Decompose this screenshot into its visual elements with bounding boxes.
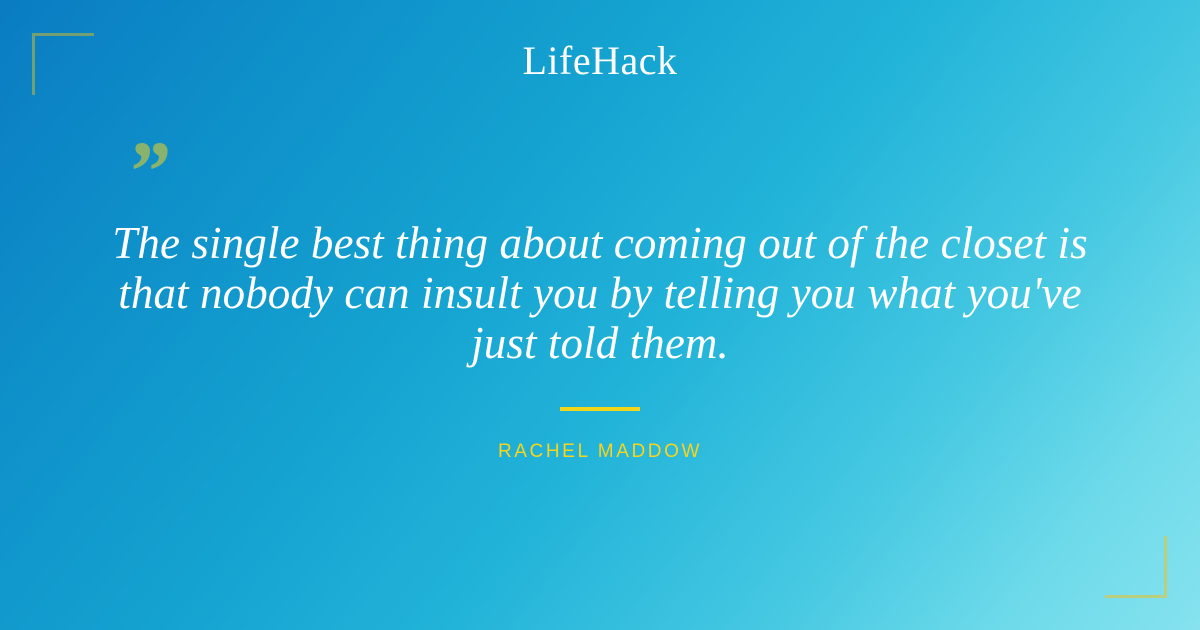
author-container: RACHEL MADDOW bbox=[0, 440, 1200, 464]
divider-container bbox=[0, 407, 1200, 411]
quote-author: RACHEL MADDOW bbox=[498, 441, 702, 462]
corner-bracket-bottom-right-icon bbox=[1105, 536, 1167, 598]
lifehack-logo: LifeHack bbox=[0, 38, 1200, 84]
accent-divider bbox=[560, 407, 640, 411]
quote-card: LifeHack ” The single best thing about c… bbox=[0, 0, 1200, 630]
quote-text: The single best thing about coming out o… bbox=[100, 218, 1100, 368]
quotation-mark-icon: ” bbox=[126, 128, 196, 198]
quote-text-block: The single best thing about coming out o… bbox=[100, 218, 1100, 368]
